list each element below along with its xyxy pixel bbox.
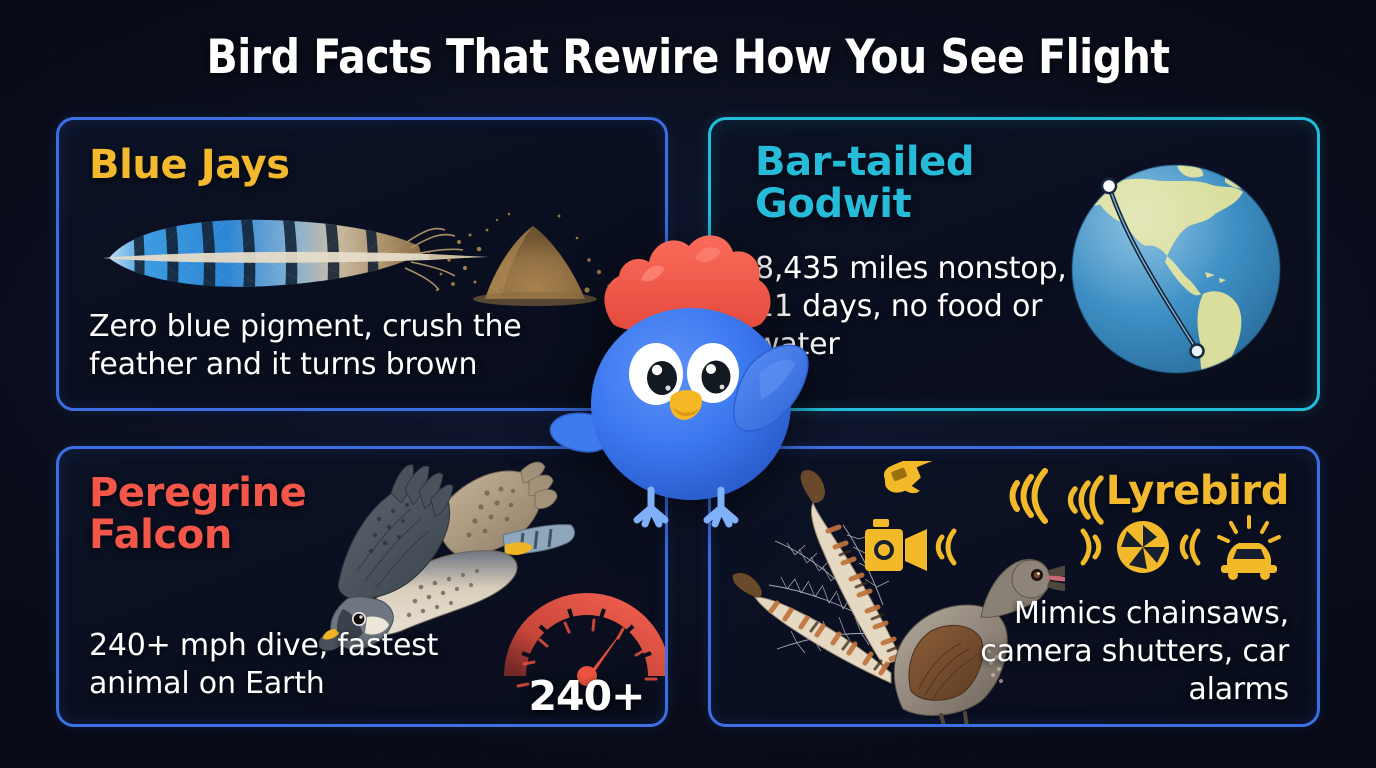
sound-wave-icon <box>1182 531 1198 563</box>
card-title-blue-jays: Blue Jays <box>89 145 290 187</box>
card-title-peregrine-falcon: Peregrine Falcon <box>89 473 389 556</box>
card-title-bar-tailed-godwit: Bar-tailed Godwit <box>755 142 1055 225</box>
sound-wave-icon <box>1071 478 1102 522</box>
card-body-lyrebird: Mimics chainsaws, camera shutters, car a… <box>949 595 1289 708</box>
card-title-lyrebird: Lyrebird <box>1106 471 1289 513</box>
sound-wave-icon <box>938 531 954 563</box>
car-alarm-icon <box>1219 517 1279 580</box>
blue-bird-mascot <box>545 228 835 528</box>
camera-icon <box>865 519 927 571</box>
card-body-peregrine-falcon: 240+ mph dive, fastest animal on Earth <box>89 627 509 703</box>
infographic-page: Bird Facts That Rewire How You See Fligh… <box>0 0 1376 768</box>
speed-gauge: 240+ <box>499 584 668 719</box>
gauge-value-label: 240+ <box>499 672 668 720</box>
camera-shutter-icon <box>1117 521 1169 573</box>
sound-wave-icon <box>1013 471 1046 521</box>
sound-wave-icon <box>1083 531 1099 563</box>
page-title: Bird Facts That Rewire How You See Fligh… <box>21 30 1356 85</box>
chainsaw-icon <box>876 461 981 503</box>
